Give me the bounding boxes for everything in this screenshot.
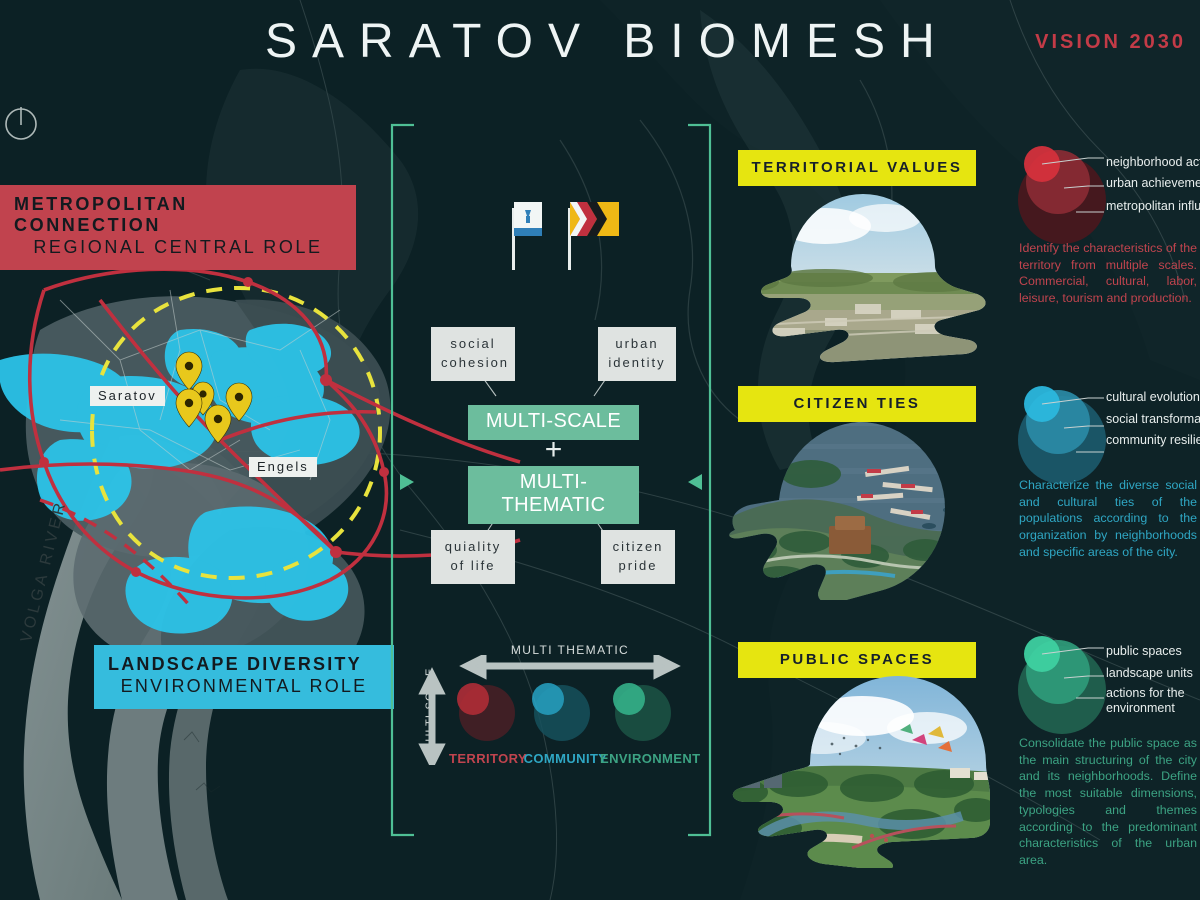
legend-label-environment: ENVIRONMENT — [600, 751, 698, 766]
chip-social-cohesion-line2: cohesion — [441, 354, 505, 373]
bubble-label-community-resilience: community resilience — [1106, 433, 1200, 448]
chip-citizen-pride-line2: pride — [611, 557, 665, 576]
bubble-label-neighborhood-action: neighborhood action — [1106, 155, 1200, 170]
bubble-label-urban-achievement: urban achievement — [1106, 176, 1200, 191]
waterfront-aerial-photo — [715, 410, 985, 600]
banner-landscape-line1: LANDSCAPE DIVERSITY — [108, 654, 380, 675]
bubble-label-cultural-evolution: cultural evolution — [1106, 390, 1200, 405]
chip-social-cohesion-line1: social — [441, 335, 505, 354]
compass-north-icon — [2, 104, 40, 142]
chip-urban-identity-line1: urban — [608, 335, 666, 354]
infographic-poster: SARATOV BIOMESH VISION 2030 METROPOLITAN… — [0, 0, 1200, 900]
panel-description-citizen-ties: Characterize the diverse social and cult… — [1019, 477, 1197, 561]
map-label-engels: Engels — [249, 457, 317, 477]
chip-quality-of-life-line1: quiality — [441, 538, 505, 557]
plus-symbol: + — [468, 433, 639, 467]
chip-quality-of-life-line2: of life — [441, 557, 505, 576]
chip-quality-of-life: quiality of life — [431, 530, 515, 584]
bubble-label-metropolitan-influence: metropolitan influence — [1106, 199, 1200, 214]
chip-urban-identity: urban identity — [598, 327, 676, 381]
saratov-oblast-flag — [490, 198, 542, 270]
banner-metro-line2: REGIONAL CENTRAL ROLE — [14, 236, 342, 259]
bubble-label-public-spaces: public spaces — [1106, 644, 1182, 659]
banner-landscape-diversity: LANDSCAPE DIVERSITY ENVIRONMENTAL ROLE — [94, 645, 394, 709]
legend-bubbles — [455, 677, 685, 747]
chip-citizen-pride-line1: citizen — [611, 538, 665, 557]
map-label-saratov: Saratov — [90, 386, 165, 406]
bubble-label-landscape-units: landscape units — [1106, 666, 1193, 681]
engels-flag — [563, 198, 621, 270]
chip-social-cohesion: social cohesion — [431, 327, 515, 381]
panel-description-public-spaces: Consolidate the public space as the main… — [1019, 735, 1197, 869]
aerial-landscape-photo — [705, 178, 995, 363]
vision-tagline: VISION 2030 — [1035, 31, 1186, 54]
multi-thematic-bar: MULTI-THEMATIC — [468, 466, 639, 524]
chip-urban-identity-line2: identity — [608, 354, 666, 373]
public-park-photo — [712, 668, 992, 868]
banner-landscape-line2: ENVIRONMENTAL ROLE — [108, 675, 380, 698]
bubble-label-social-transformation: social transformation — [1106, 412, 1200, 427]
banner-metropolitan-connection: METROPOLITAN CONNECTION REGIONAL CENTRAL… — [0, 185, 356, 270]
banner-metro-line1: METROPOLITAN CONNECTION — [14, 194, 342, 236]
bubble-label-actions-environment: actions for the environment — [1106, 686, 1185, 717]
panel-description-territorial-values: Identify the characteristics of the terr… — [1019, 240, 1197, 307]
chip-citizen-pride: citizen pride — [601, 530, 675, 584]
legend-label-community: COMMUNITY — [518, 751, 613, 766]
page-title: SARATOV BIOMESH — [265, 14, 950, 69]
